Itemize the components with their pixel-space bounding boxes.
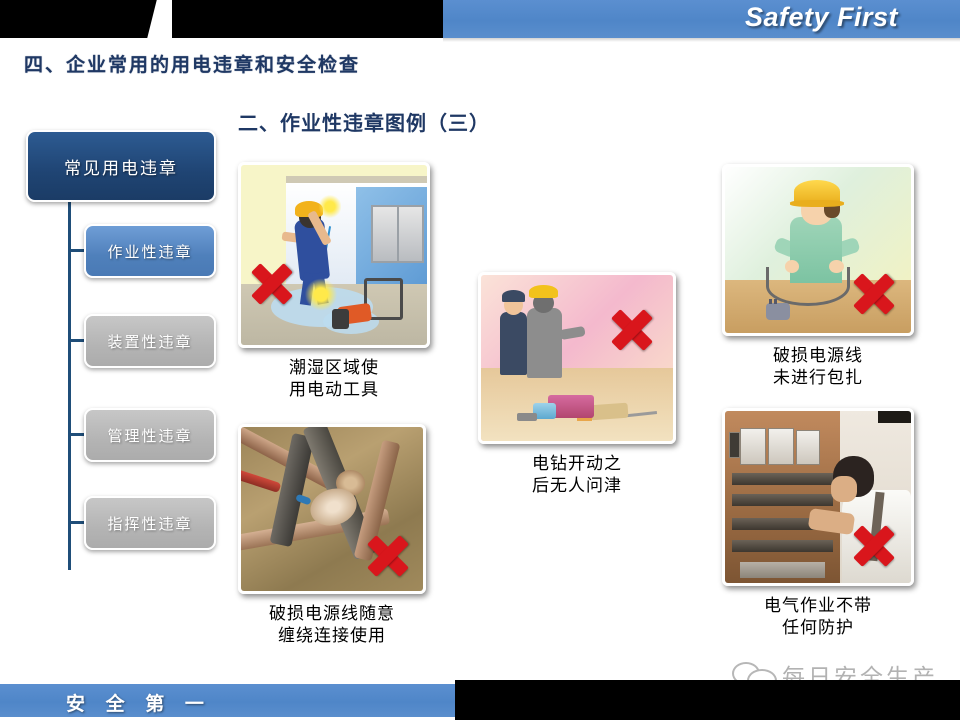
- figure-wet-area-power-tool: 潮湿区域使 用电动工具: [238, 162, 430, 401]
- figure-caption: 破损电源线随意 缠绕连接使用: [238, 603, 426, 647]
- figure-damaged-cord-not-wrapped: 破损电源线 未进行包扎: [722, 164, 914, 389]
- violation-category-tree: 常见用电违章 作业性违章 装置性违章 管理性违章 指挥性违章: [22, 120, 222, 560]
- figure-image: [478, 272, 676, 444]
- brand-title: Safety First: [745, 2, 898, 33]
- figure-caption-line2: 缠绕连接使用: [238, 625, 426, 647]
- figure-caption-line1: 电气作业不带: [722, 595, 914, 617]
- banner-black-block-mid: [172, 0, 443, 38]
- figure-caption-line1: 破损电源线: [722, 345, 914, 367]
- figure-image: [722, 164, 914, 336]
- footer-bar: 安 全 第 一: [0, 680, 960, 720]
- red-x-icon: [851, 523, 897, 569]
- banner-black-block-left: [0, 0, 158, 38]
- figure-caption: 电气作业不带 任何防护: [722, 595, 914, 639]
- chapter-title: 四、企业常用的用电违章和安全检查: [24, 50, 360, 77]
- tree-trunk-line: [68, 198, 71, 570]
- figure-caption: 破损电源线 未进行包扎: [722, 345, 914, 389]
- figure-image: [238, 424, 426, 594]
- figure-caption: 潮湿区域使 用电动工具: [238, 357, 430, 401]
- figure-electrical-work-without-protection: 电气作业不带 任何防护: [722, 408, 914, 639]
- illustration-worker-electrocuted-wet-floor: [241, 165, 427, 345]
- figure-image: [722, 408, 914, 586]
- figure-caption-line2: 任何防护: [722, 617, 914, 639]
- figure-image: [238, 162, 430, 348]
- red-x-icon: [249, 261, 295, 307]
- banner-shadow: [443, 38, 960, 42]
- section-title: 二、作业性违章图例（三）: [238, 107, 490, 136]
- footer-black-block: [455, 680, 960, 720]
- sidebar-item-management-violations[interactable]: 管理性违章: [84, 408, 216, 462]
- figure-unattended-running-drill: 电钻开动之 后无人问津: [478, 272, 676, 497]
- figure-damaged-cords-twisted-together: 破损电源线随意 缠绕连接使用: [238, 424, 426, 647]
- sidebar-item-equipment-violations[interactable]: 装置性违章: [84, 314, 216, 368]
- figure-caption-line2: 后无人问津: [478, 475, 676, 497]
- red-x-icon: [851, 271, 897, 317]
- top-banner: Safety First: [0, 0, 960, 38]
- footer-text: 安 全 第 一: [66, 689, 211, 716]
- figure-caption-line1: 潮湿区域使: [238, 357, 430, 379]
- sidebar-item-operational-violations[interactable]: 作业性违章: [84, 224, 216, 278]
- red-x-icon: [365, 533, 411, 579]
- figure-caption-line1: 电钻开动之: [478, 453, 676, 475]
- figure-caption: 电钻开动之 后无人问津: [478, 453, 676, 497]
- sidebar-item-common-violations[interactable]: 常见用电违章: [26, 130, 216, 202]
- figure-caption-line2: 用电动工具: [238, 379, 430, 401]
- illustration-workers-chatting-drill-running: [481, 275, 673, 441]
- figure-caption-line1: 破损电源线随意: [238, 603, 426, 625]
- figure-caption-line2: 未进行包扎: [722, 367, 914, 389]
- sidebar-item-command-violations[interactable]: 指挥性违章: [84, 496, 216, 550]
- red-x-icon: [609, 307, 655, 353]
